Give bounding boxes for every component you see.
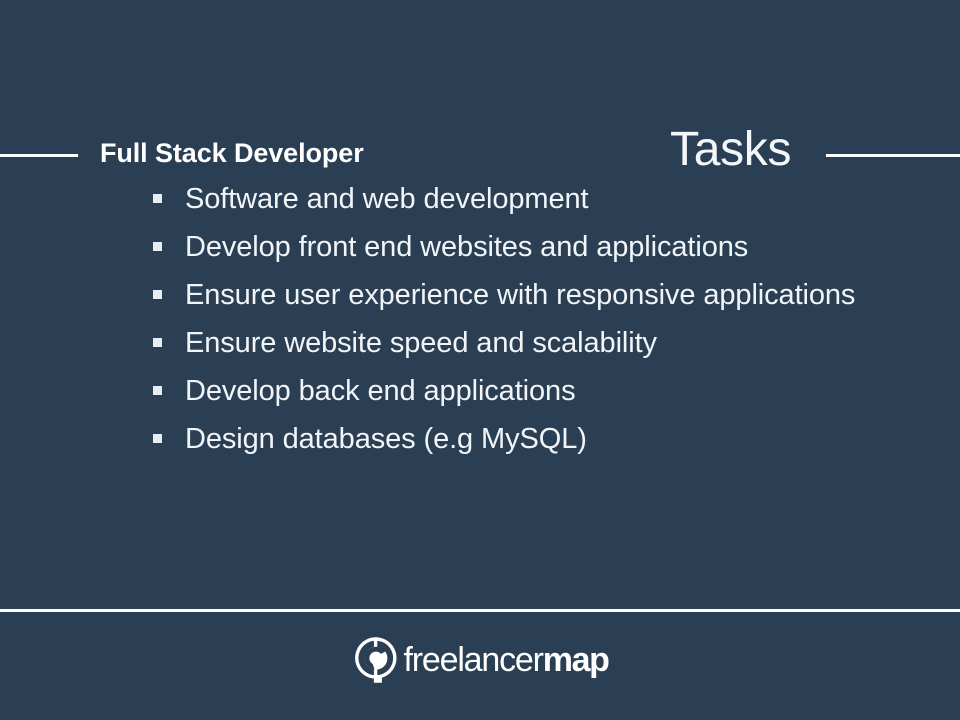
- list-item-label: Develop back end applications: [185, 375, 575, 407]
- list-item: Develop back end applications: [152, 367, 885, 415]
- task-list: Software and web development Develop fro…: [152, 175, 912, 463]
- slide-subtitle: Full Stack Developer: [100, 138, 364, 169]
- slide-header: Full Stack Developer Tasks: [0, 60, 960, 132]
- list-item: Software and web development: [152, 175, 885, 223]
- square-bullet-icon: [153, 194, 162, 203]
- list-item: Develop front end websites and applicati…: [152, 223, 885, 271]
- freelancermap-logo: freelancermap: [352, 636, 609, 684]
- header-rule-left: [0, 154, 78, 157]
- square-bullet-icon: [153, 434, 162, 443]
- freelancermap-wordmark: freelancermap: [404, 643, 609, 677]
- list-item-label: Ensure website speed and scalability: [185, 327, 657, 359]
- square-bullet-icon: [153, 338, 162, 347]
- list-item: Ensure website speed and scalability: [152, 319, 885, 367]
- freelancermap-logo-icon: [352, 636, 400, 684]
- list-item-label: Design databases (e.g MySQL): [185, 423, 587, 455]
- list-item: Ensure user experience with responsive a…: [152, 271, 885, 319]
- slide-footer: freelancermap: [0, 630, 960, 690]
- list-item-label: Ensure user experience with responsive a…: [185, 279, 855, 311]
- square-bullet-icon: [153, 386, 162, 395]
- slide-title: Tasks: [670, 122, 791, 177]
- list-item-label: Develop front end websites and applicati…: [185, 231, 748, 263]
- list-item-label: Software and web development: [185, 183, 588, 215]
- list-item: Design databases (e.g MySQL): [152, 415, 885, 463]
- square-bullet-icon: [153, 242, 162, 251]
- logo-text-freelancer: freelancer: [404, 641, 543, 679]
- slide: Full Stack Developer Tasks Software and …: [0, 0, 960, 720]
- footer-divider: [0, 609, 960, 612]
- square-bullet-icon: [153, 290, 162, 299]
- header-rule-right: [826, 154, 960, 157]
- logo-text-map: map: [543, 641, 609, 679]
